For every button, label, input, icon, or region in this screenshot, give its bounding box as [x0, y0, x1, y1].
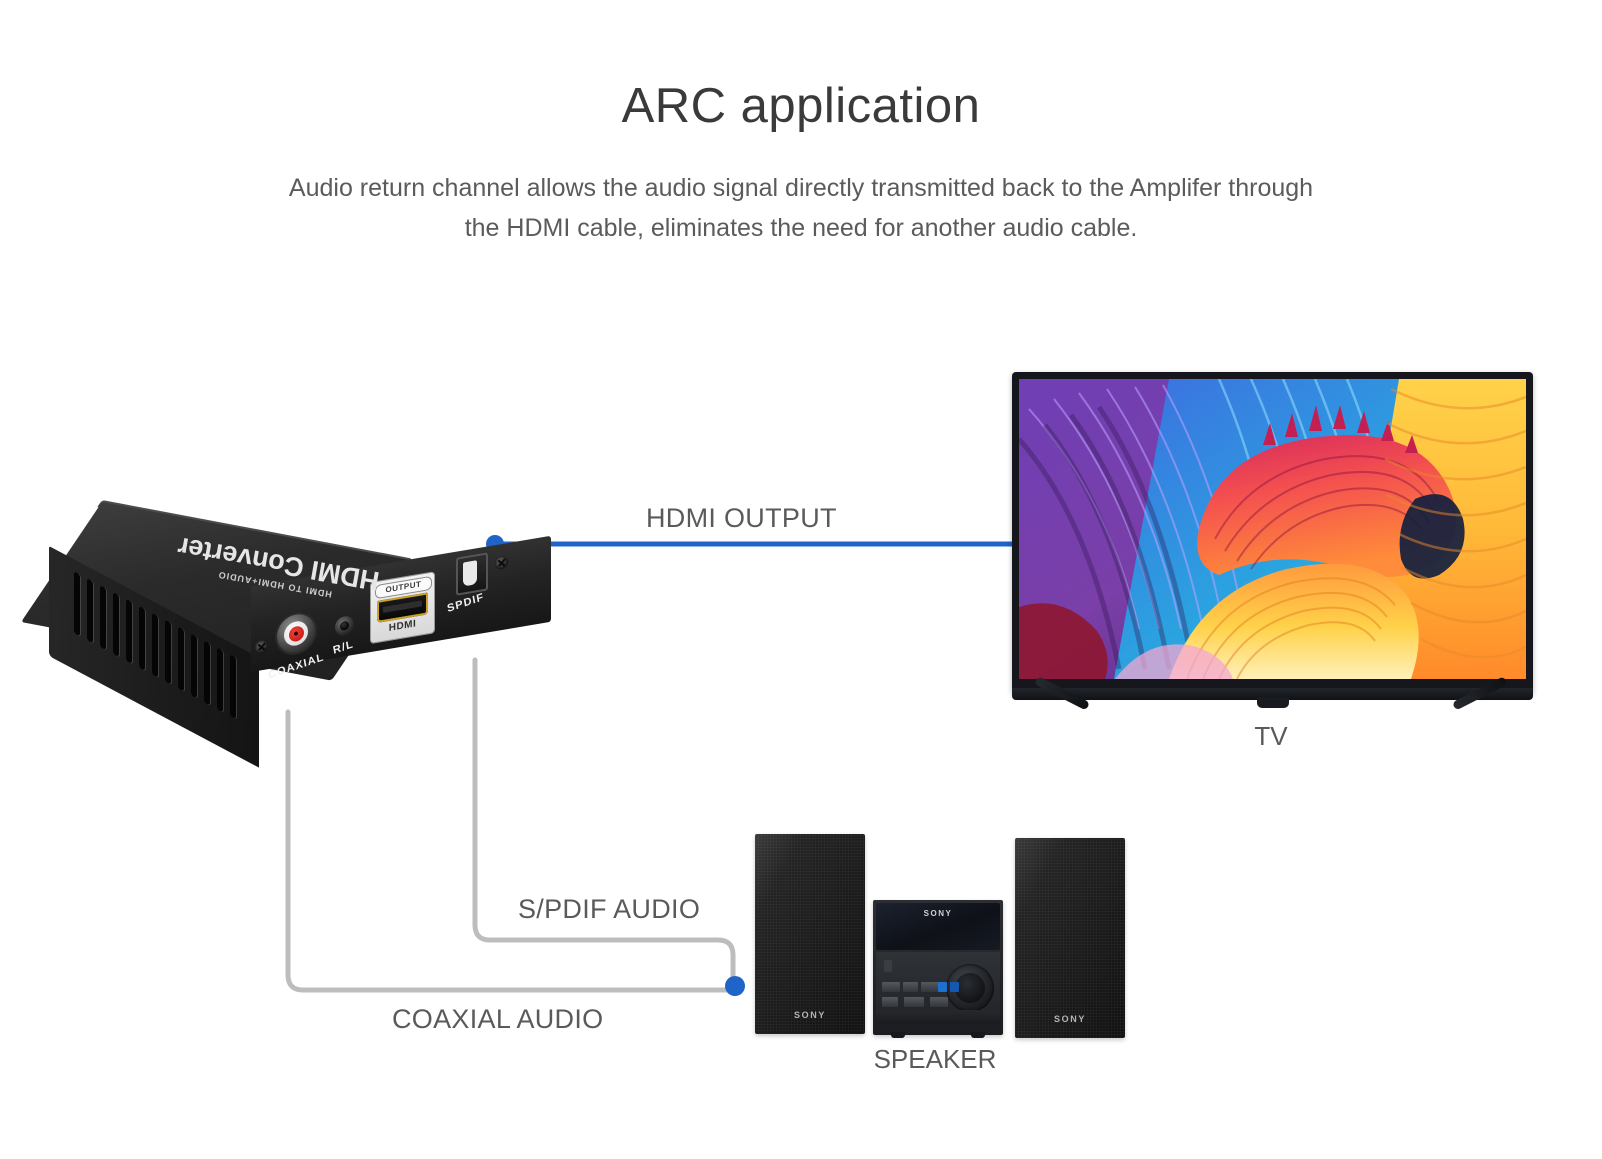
hdmi-output-port[interactable]: OUTPUT HDMI [371, 572, 434, 643]
center-unit-base-strip [876, 1010, 1000, 1024]
cd-slot-icon [884, 960, 892, 972]
center-unit-foot-right [971, 1032, 985, 1038]
vent-slot [217, 647, 223, 712]
vent-slot [204, 640, 210, 705]
rca-pin-hole [294, 631, 298, 636]
page-title: ARC application [0, 78, 1602, 134]
tv-screen [1019, 379, 1526, 679]
vent-slot [74, 571, 80, 636]
rca-red-insert [289, 625, 304, 643]
preset-button[interactable] [921, 982, 939, 992]
tv-caption: TV [1006, 721, 1536, 752]
rl-port-label: R/L [332, 638, 354, 656]
transport-button[interactable] [904, 997, 924, 1007]
tv-wallpaper [1019, 379, 1526, 679]
preset-button[interactable] [882, 982, 900, 992]
vent-slot [87, 578, 93, 643]
speaker-cable-endpoint [725, 976, 745, 996]
vent-slot [139, 606, 145, 671]
transport-button[interactable] [930, 997, 948, 1007]
subtitle-line-2: the HDMI cable, eliminates the need for … [160, 208, 1442, 248]
arc-application-diagram: ARC application Audio return channel all… [0, 0, 1602, 1159]
bluetooth-led-icon [938, 982, 947, 992]
vent-slot [165, 620, 171, 685]
speaker-caption: SPEAKER [685, 1044, 1185, 1075]
spdif-optical-port[interactable] [456, 552, 488, 595]
speaker-grill [1015, 838, 1125, 1038]
coaxial-rca-port[interactable] [277, 611, 315, 655]
spdif-port-label: SPDIF [446, 591, 485, 615]
rl-audio-jack-port[interactable] [335, 615, 354, 637]
hdmi-converter-device: OUTPUT HDMI COAXIAL R/L SPDIF [46, 498, 536, 733]
cable-label-hdmi-output: HDMI OUTPUT [646, 503, 837, 534]
coaxial-cable [288, 712, 733, 990]
vent-slot [230, 654, 236, 719]
speaker-right-logo: SONY [1015, 1014, 1125, 1024]
screw-icon [255, 639, 268, 654]
vent-slot [100, 585, 106, 650]
vent-slot [113, 592, 119, 657]
vent-slot [126, 599, 132, 664]
center-unit-foot-left [891, 1032, 905, 1038]
tv-ir-receiver-icon [1257, 697, 1289, 708]
speaker-left: SONY [755, 834, 865, 1034]
cable-label-spdif-audio: S/PDIF AUDIO [518, 894, 700, 925]
subtitle-line-1: Audio return channel allows the audio si… [160, 168, 1442, 208]
center-unit-logo: SONY [876, 909, 1000, 918]
vent-slot [178, 626, 184, 691]
speaker-grill [755, 834, 865, 1034]
speaker-system: SONY SONY [745, 826, 1125, 1081]
rca-ring [284, 619, 308, 647]
speaker-left-logo: SONY [755, 1010, 865, 1020]
cable-label-coaxial-audio: COAXIAL AUDIO [392, 1004, 603, 1035]
center-unit-display: SONY [876, 903, 1000, 950]
page-subtitle: Audio return channel allows the audio si… [160, 168, 1442, 248]
button-row-bottom [882, 997, 952, 1009]
tv-device: TV [1006, 366, 1536, 741]
status-led-icon [950, 982, 959, 992]
screw-icon [495, 555, 508, 570]
tv-bezel [1012, 372, 1533, 694]
speaker-right: SONY [1015, 838, 1125, 1038]
vent-slot [152, 613, 158, 678]
vent-slot [191, 633, 197, 698]
hifi-center-unit: SONY [873, 900, 1003, 1035]
preset-button[interactable] [903, 982, 918, 992]
transport-button[interactable] [882, 997, 898, 1007]
